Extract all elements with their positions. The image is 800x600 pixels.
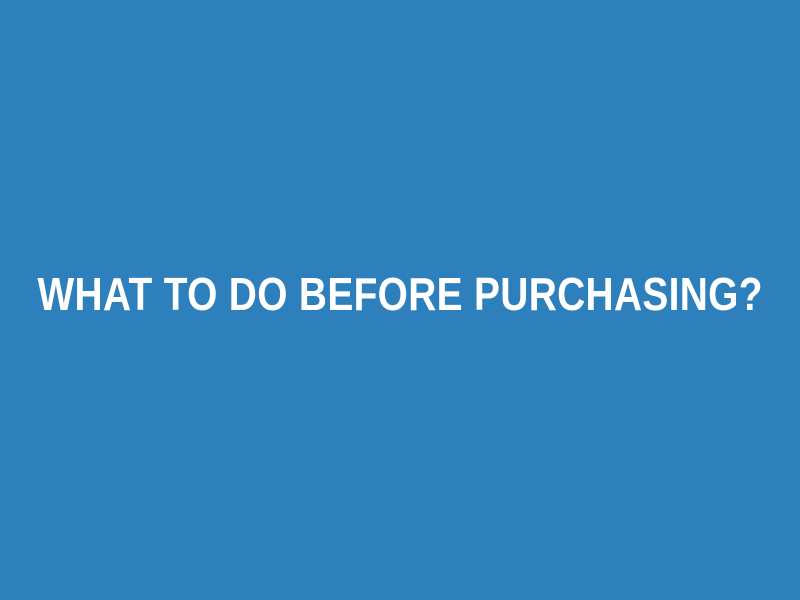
page-title: WHAT TO DO BEFORE PURCHASING? — [37, 271, 762, 317]
headline-container: WHAT TO DO BEFORE PURCHASING? — [0, 0, 800, 600]
title-card: WHAT TO DO BEFORE PURCHASING? — [0, 0, 800, 600]
